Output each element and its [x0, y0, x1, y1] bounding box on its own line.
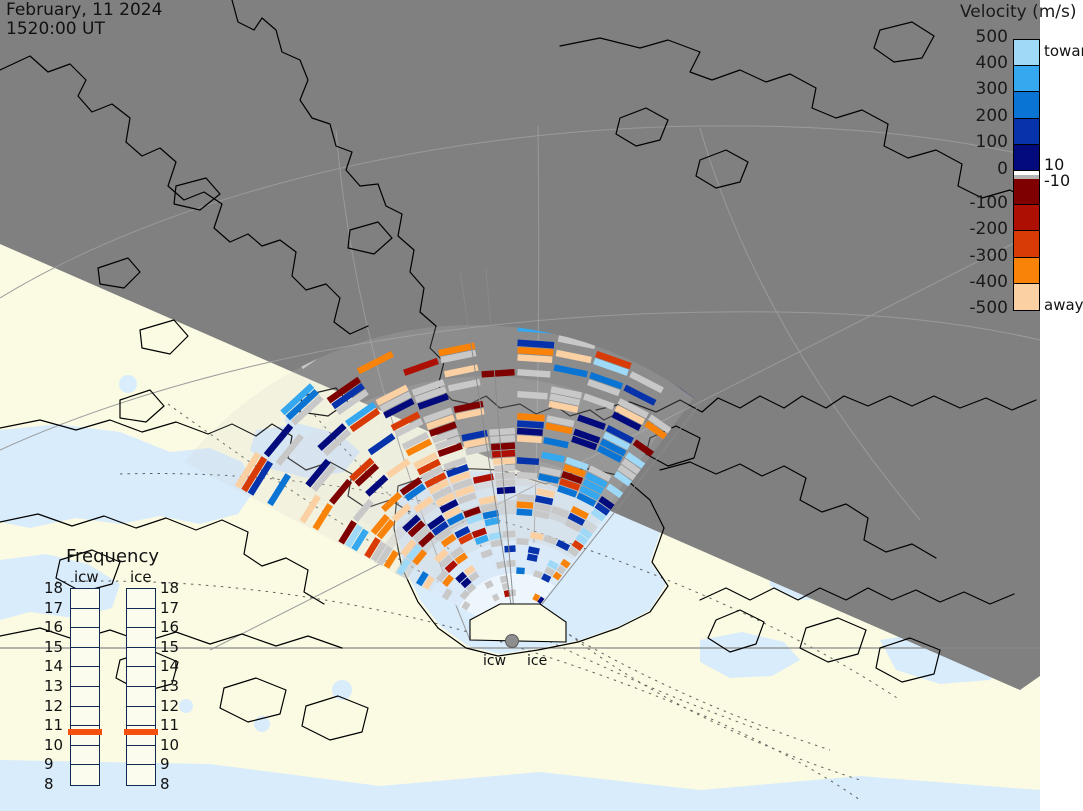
frequency-marker [68, 729, 102, 735]
frequency-bar-segment [71, 628, 99, 648]
frequency-tick-right: 12 [160, 699, 179, 714]
velocity-cell [516, 501, 533, 509]
frequency-bar-segment [127, 765, 155, 785]
frequency-bar-segment [127, 609, 155, 629]
frequency-bar-segment [71, 765, 99, 785]
velocity-cell [516, 509, 532, 516]
colorbar-away-label: away [1044, 298, 1083, 313]
colorbar-tick: 200 [954, 108, 1008, 125]
frequency-panel: Frequency icw ice 18171615141312111098 1… [60, 546, 190, 792]
frequency-tick-left: 9 [44, 757, 54, 772]
colorbar-segment [1014, 258, 1039, 284]
colorbar-tick: 100 [954, 134, 1008, 151]
colorbar-tick: 400 [954, 55, 1008, 72]
colorbar-tick: 500 [954, 29, 1008, 46]
colorbar-segment [1014, 284, 1039, 310]
colorbar-toward-label: toward [1044, 44, 1083, 59]
ground-scatter-cell [517, 494, 535, 502]
timestamp: February, 11 20241520:00 UT [6, 1, 162, 39]
radar-fan-plot: icw ice February, 11 20241520:00 UT Velo… [0, 0, 1083, 811]
frequency-bar-segment [71, 589, 99, 609]
ground-scatter-cell [496, 479, 516, 487]
origin-label-ice: ice [527, 653, 547, 669]
colorbar-tick: 0 [954, 161, 1008, 178]
ground-scatter-cell [516, 538, 528, 545]
colorbar-lower-threshold-label: -10 [1044, 173, 1070, 189]
colorbar-segment [1014, 205, 1039, 231]
colorbar-segment [1014, 92, 1039, 118]
colorbar-segment [1014, 66, 1039, 92]
frequency-tick-left: 18 [44, 581, 63, 596]
frequency-bar-icw[interactable] [70, 588, 100, 786]
ground-scatter-cell [495, 472, 516, 480]
colorbar-tick: 300 [954, 81, 1008, 98]
frequency-bar-segment [71, 609, 99, 629]
frequency-tick-left: 13 [44, 679, 63, 694]
frequency-tick-right: 17 [160, 601, 179, 616]
velocity-cell [497, 486, 516, 494]
frequency-tick-left: 8 [44, 777, 54, 792]
frequency-bar-segment [71, 746, 99, 766]
frequency-tick-left: 15 [44, 640, 63, 655]
frequency-column-header-icw: icw [74, 568, 99, 586]
colorbar-side-labels: toward10-10away [1044, 0, 1083, 811]
frequency-tick-left: 10 [44, 738, 63, 753]
frequency-tick-right: 15 [160, 640, 179, 655]
frequency-bar-segment [127, 589, 155, 609]
frequency-bar-ice[interactable] [126, 588, 156, 786]
timestamp-time: 1520:00 UT [6, 19, 105, 39]
velocity-cell [504, 545, 515, 552]
colorbar-segment [1014, 40, 1039, 66]
frequency-bar-segment [127, 707, 155, 727]
frequency-marker [124, 729, 158, 735]
frequency-bar-segment [71, 667, 99, 687]
frequency-tick-right: 11 [160, 718, 179, 733]
frequency-bar-segment [127, 667, 155, 687]
frequency-tick-right: 18 [160, 581, 179, 596]
colorbar-tick: -200 [954, 221, 1008, 238]
colorbar-segment [1014, 231, 1039, 257]
frequency-bar-segment [71, 707, 99, 727]
ground-scatter-cell [502, 531, 515, 538]
frequency-bar-segment [127, 687, 155, 707]
frequency-tick-left: 14 [44, 659, 63, 674]
frequency-bar-segment [127, 746, 155, 766]
frequency-title: Frequency [66, 546, 159, 567]
frequency-tick-left: 12 [44, 699, 63, 714]
colorbar-segment [1014, 179, 1039, 205]
frequency-tick-left: 11 [44, 718, 63, 733]
frequency-bar-segment [127, 628, 155, 648]
ground-scatter-cell [517, 472, 538, 480]
colorbar-segment [1014, 145, 1039, 171]
frequency-tick-left: 17 [44, 601, 63, 616]
frequency-tick-left: 16 [44, 620, 63, 635]
frequency-tick-right: 10 [160, 738, 179, 753]
colorbar-ticks: 5004003002001000-100-200-300-400-500 [952, 0, 1008, 811]
frequency-tick-right: 14 [160, 659, 179, 674]
frequency-tick-right: 13 [160, 679, 179, 694]
colorbar [1013, 39, 1040, 311]
frequency-bar-segment [127, 648, 155, 668]
frequency-tick-right: 16 [160, 620, 179, 635]
colorbar-tick: -500 [954, 300, 1008, 317]
origin-label-icw: icw [483, 653, 506, 669]
velocity-cell [516, 567, 525, 574]
colorbar-tick: -300 [954, 248, 1008, 265]
frequency-tick-right: 8 [160, 777, 170, 792]
timestamp-date: February, 11 2024 [6, 0, 162, 20]
frequency-tick-right: 9 [160, 757, 170, 772]
frequency-bar-segment [71, 687, 99, 707]
frequency-column-header-ice: ice [130, 568, 152, 586]
frequency-bar-segment [71, 648, 99, 668]
colorbar-segment [1014, 119, 1039, 145]
colorbar-tick: -400 [954, 274, 1008, 291]
ground-scatter-cell [506, 560, 516, 567]
colorbar-tick: -100 [954, 195, 1008, 212]
